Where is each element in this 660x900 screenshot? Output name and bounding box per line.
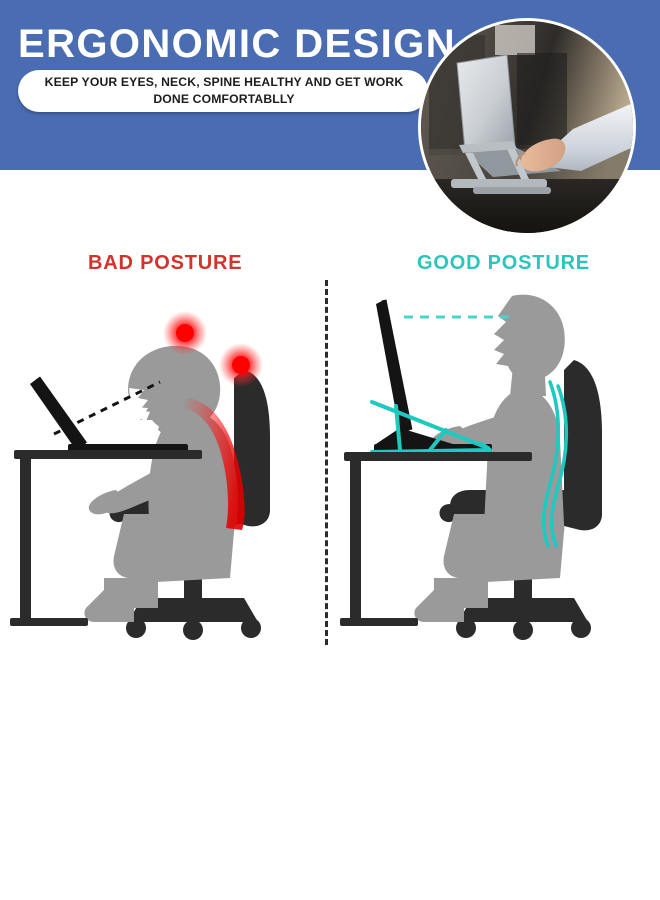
pain-point-neck-dot — [176, 324, 194, 342]
bad-posture-heading: BAD POSTURE — [88, 252, 242, 275]
subtitle-pill: KEEP YOUR EYES, NECK, SPINE HEALTHY AND … — [18, 70, 428, 112]
good-posture-heading: GOOD POSTURE — [417, 252, 590, 275]
good-posture-illustration — [338, 278, 658, 653]
pain-point-shoulder-dot — [232, 356, 250, 374]
subtitle-text: KEEP YOUR EYES, NECK, SPINE HEALTHY AND … — [28, 74, 420, 108]
product-photo — [418, 18, 636, 236]
product-photo-illustration — [421, 21, 633, 233]
person-silhouette-bad — [84, 346, 238, 622]
bad-posture-illustration — [8, 278, 328, 653]
page-title: ERGONOMIC DESIGN — [18, 22, 438, 66]
